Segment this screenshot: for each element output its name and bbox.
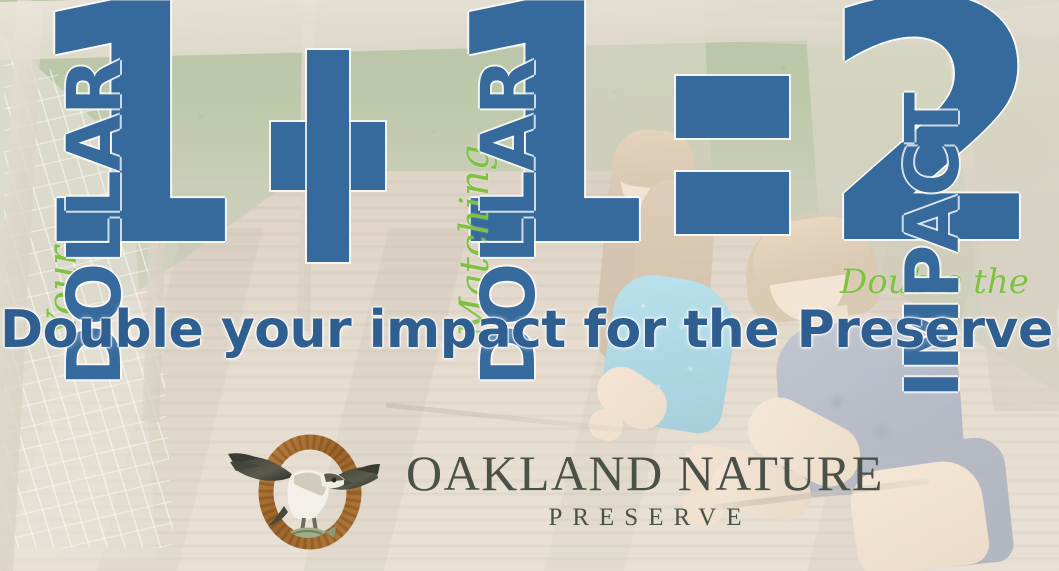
page-title: Double your impact for the Preserve! xyxy=(0,300,1059,360)
equals-sign-icon xyxy=(676,76,789,234)
organization-name: OAKLAND NATURE xyxy=(406,448,884,498)
equals-top-bar xyxy=(676,76,789,138)
plus-vertical-bar xyxy=(307,50,349,262)
logo-wordmark: OAKLAND NATURE PRESERVE xyxy=(406,448,884,532)
organization-subtitle: PRESERVE xyxy=(538,504,751,532)
osprey-in-ring-icon xyxy=(214,424,392,556)
organization-logo: OAKLAND NATURE PRESERVE xyxy=(214,424,884,556)
plus-sign-icon xyxy=(271,50,385,262)
equals-bottom-bar xyxy=(676,172,789,234)
donation-match-poster: 1 Your DOLLAR 1 Matching DOLLAR 2 Double… xyxy=(0,0,1059,571)
